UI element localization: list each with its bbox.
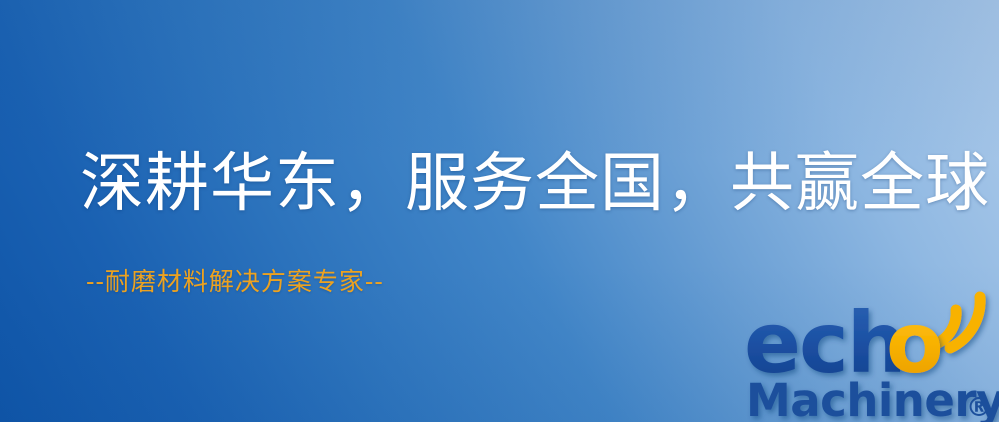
echo-machinery-logo[interactable]: ech o Machinery ®: [742, 288, 999, 422]
registered-trademark-mark: ®: [966, 393, 992, 422]
page-subtitle: --耐磨材料解决方案专家--: [86, 268, 384, 297]
page-title: 深耕华东，服务全国，共赢全球: [80, 152, 990, 216]
logo-tagline: Machinery: [746, 374, 999, 422]
hero-banner: 深耕华东，服务全国，共赢全球 --耐磨材料解决方案专家--: [0, 0, 999, 422]
